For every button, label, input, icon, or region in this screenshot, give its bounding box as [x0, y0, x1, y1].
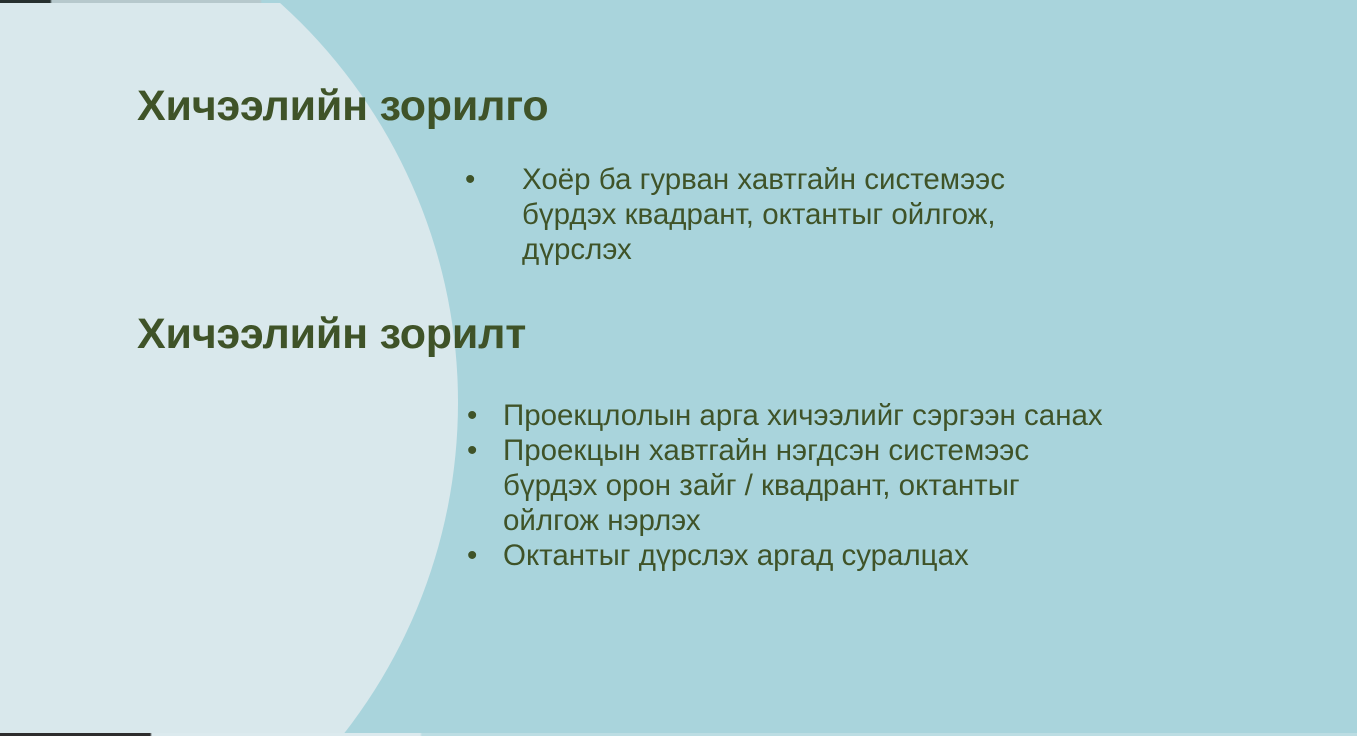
list-item: • Проекцын хавтгайн нэгдсэн системээс бү…: [465, 433, 1115, 538]
lesson-target-heading: Хичээлийн зорилт: [137, 310, 526, 359]
bullet-icon: •: [465, 162, 475, 197]
bullet-icon: •: [467, 433, 477, 468]
list-item-label: Проекцлолын арга хичээлийг сэргээн санах: [465, 398, 1115, 433]
presentation-slide: Хичээлийн зорилго • Хоёр ба гурван хавтг…: [0, 0, 1357, 736]
lesson-goal-list: • Хоёр ба гурван хавтгайн системээс бүрд…: [465, 162, 1085, 267]
list-item: • Хоёр ба гурван хавтгайн системээс бүрд…: [465, 162, 1085, 267]
lesson-goal-heading: Хичээлийн зорилго: [137, 82, 548, 131]
list-item: • Октантыг дүрслэх аргад суралцах: [465, 538, 1115, 573]
list-item-label: Проекцын хавтгайн нэгдсэн системээс бүрд…: [465, 433, 1115, 538]
lesson-target-list: • Проекцлолын арга хичээлийг сэргээн сан…: [465, 398, 1115, 573]
list-item: • Проекцлолын арга хичээлийг сэргээн сан…: [465, 398, 1115, 433]
slide-content: Хичээлийн зорилго • Хоёр ба гурван хавтг…: [0, 0, 1357, 736]
list-item-label: Октантыг дүрслэх аргад суралцах: [465, 538, 1115, 573]
bullet-icon: •: [467, 538, 477, 573]
bullet-icon: •: [467, 398, 477, 433]
list-item-label: Хоёр ба гурван хавтгайн системээс бүрдэх…: [465, 162, 1085, 267]
